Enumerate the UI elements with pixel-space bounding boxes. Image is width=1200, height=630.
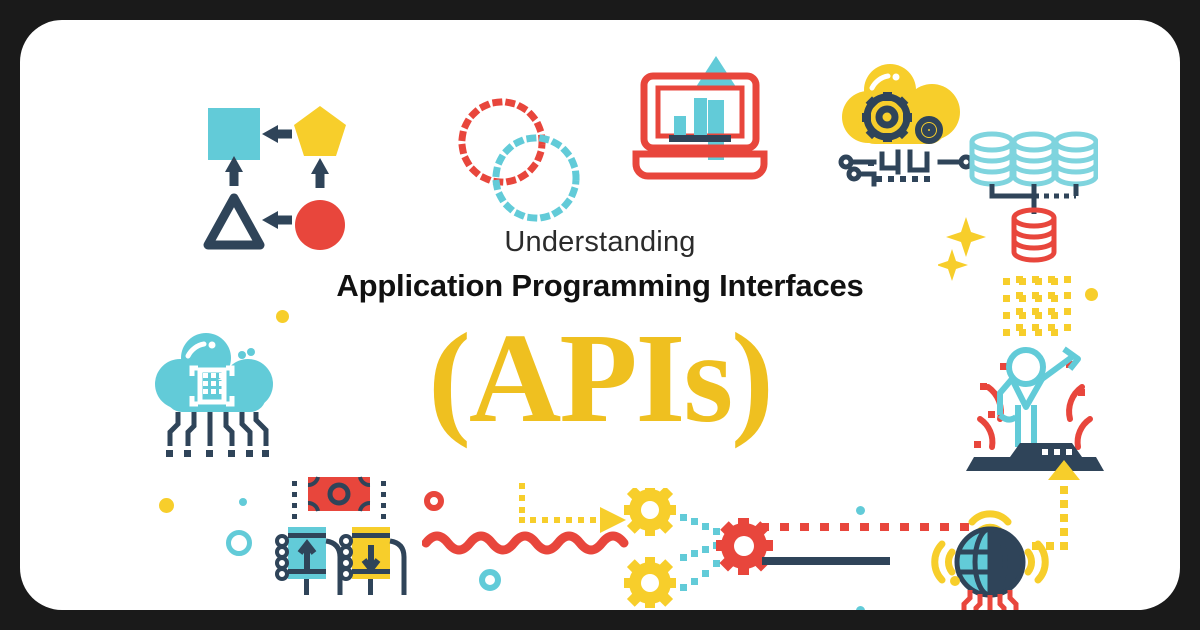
decor-dot-cyan-2: [239, 498, 247, 506]
decor-dot-yellow-2: [159, 498, 174, 513]
person-podium: [960, 335, 1110, 475]
laptop-growth-chart: [630, 50, 770, 185]
gear-network: [620, 488, 800, 608]
dot-grid-yellow-2: [1003, 278, 1065, 336]
poster-card: Understanding Application Programming In…: [20, 20, 1180, 610]
banknote-icon: [308, 477, 370, 511]
ring-cyan: [482, 572, 498, 588]
solid-line-navy: [762, 556, 890, 566]
sparkle-icon: [938, 215, 1008, 285]
dotted-arrow-up: [1030, 460, 1100, 565]
ring-red: [427, 494, 441, 508]
decor-dot-cyan-1: [247, 348, 255, 356]
cloud-chip-circuit: [148, 332, 288, 462]
illustration-stage: Understanding Application Programming In…: [20, 20, 1180, 610]
decor-dot-yellow-1: [276, 310, 289, 323]
data-transfer-cards: [270, 475, 410, 610]
decor-dot-yellow-3: [1085, 288, 1098, 301]
download-card: [341, 527, 404, 595]
wavy-line-and-arrow: [422, 475, 652, 595]
decor-dot-yellow-4: [950, 576, 960, 586]
wavy-line: [426, 536, 624, 550]
decor-ring-cyan-1: [226, 530, 252, 556]
dotted-arrow-path: [519, 483, 626, 533]
decor-dot-cyan-3: [856, 606, 865, 610]
decor-dot-cyan-4: [856, 506, 865, 515]
overlapping-dotted-circles: [454, 94, 584, 224]
upload-card: [277, 527, 340, 595]
shapes-flow-diagram: [180, 90, 360, 260]
